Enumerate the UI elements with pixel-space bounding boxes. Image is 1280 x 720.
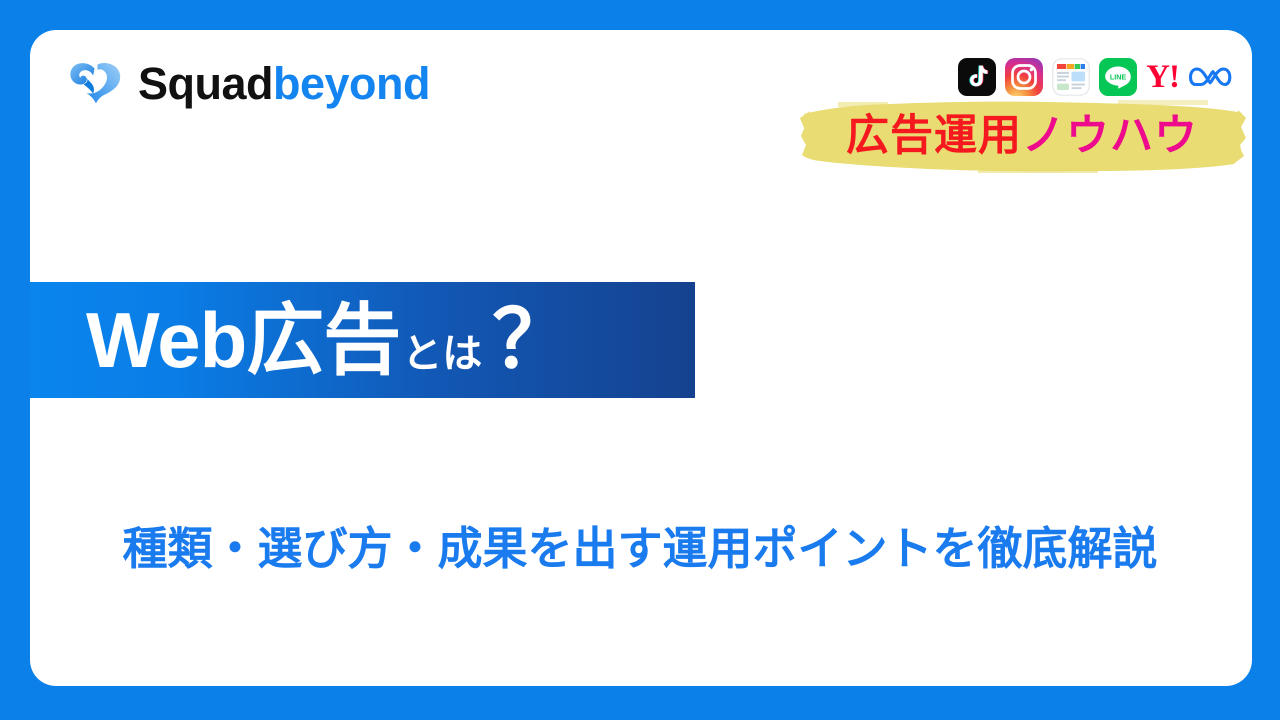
page-subtitle: 種類・選び方・成果を出す運用ポイントを徹底解説 (0, 524, 1280, 574)
meta-icon (1188, 58, 1232, 96)
status-badge: 広告運用ノウハウ (798, 98, 1246, 174)
instagram-icon (1005, 58, 1043, 96)
brand-wordmark: Squadbeyond (138, 61, 430, 106)
line-icon: LINE (1099, 58, 1137, 96)
slide-root: Squadbeyond (0, 0, 1280, 720)
page-title-particle: とは (402, 334, 482, 374)
page-title-banner: Web広告とは？ (30, 282, 695, 398)
squad-beyond-logo-mark (68, 58, 124, 108)
yahoo-icon: Y! (1146, 58, 1179, 96)
social-platform-icons: LINE Y! (958, 57, 1232, 97)
brand-name-squad: Squad (138, 58, 273, 109)
page-title-main: Web広告 (86, 301, 400, 379)
badge-label-katakana: ノウハウ (1022, 115, 1198, 158)
badge-label-kanji: 広告運用 (846, 115, 1022, 158)
tiktok-icon (958, 58, 996, 96)
page-title: Web広告とは？ (30, 300, 572, 380)
brand-name-beyond: beyond (273, 58, 430, 109)
svg-text:LINE: LINE (1110, 73, 1127, 82)
brand-logo: Squadbeyond (68, 58, 430, 108)
page-title-question-mark: ？ (492, 300, 572, 380)
badge-label: 広告運用ノウハウ (798, 98, 1246, 174)
smartnews-icon (1052, 58, 1090, 96)
